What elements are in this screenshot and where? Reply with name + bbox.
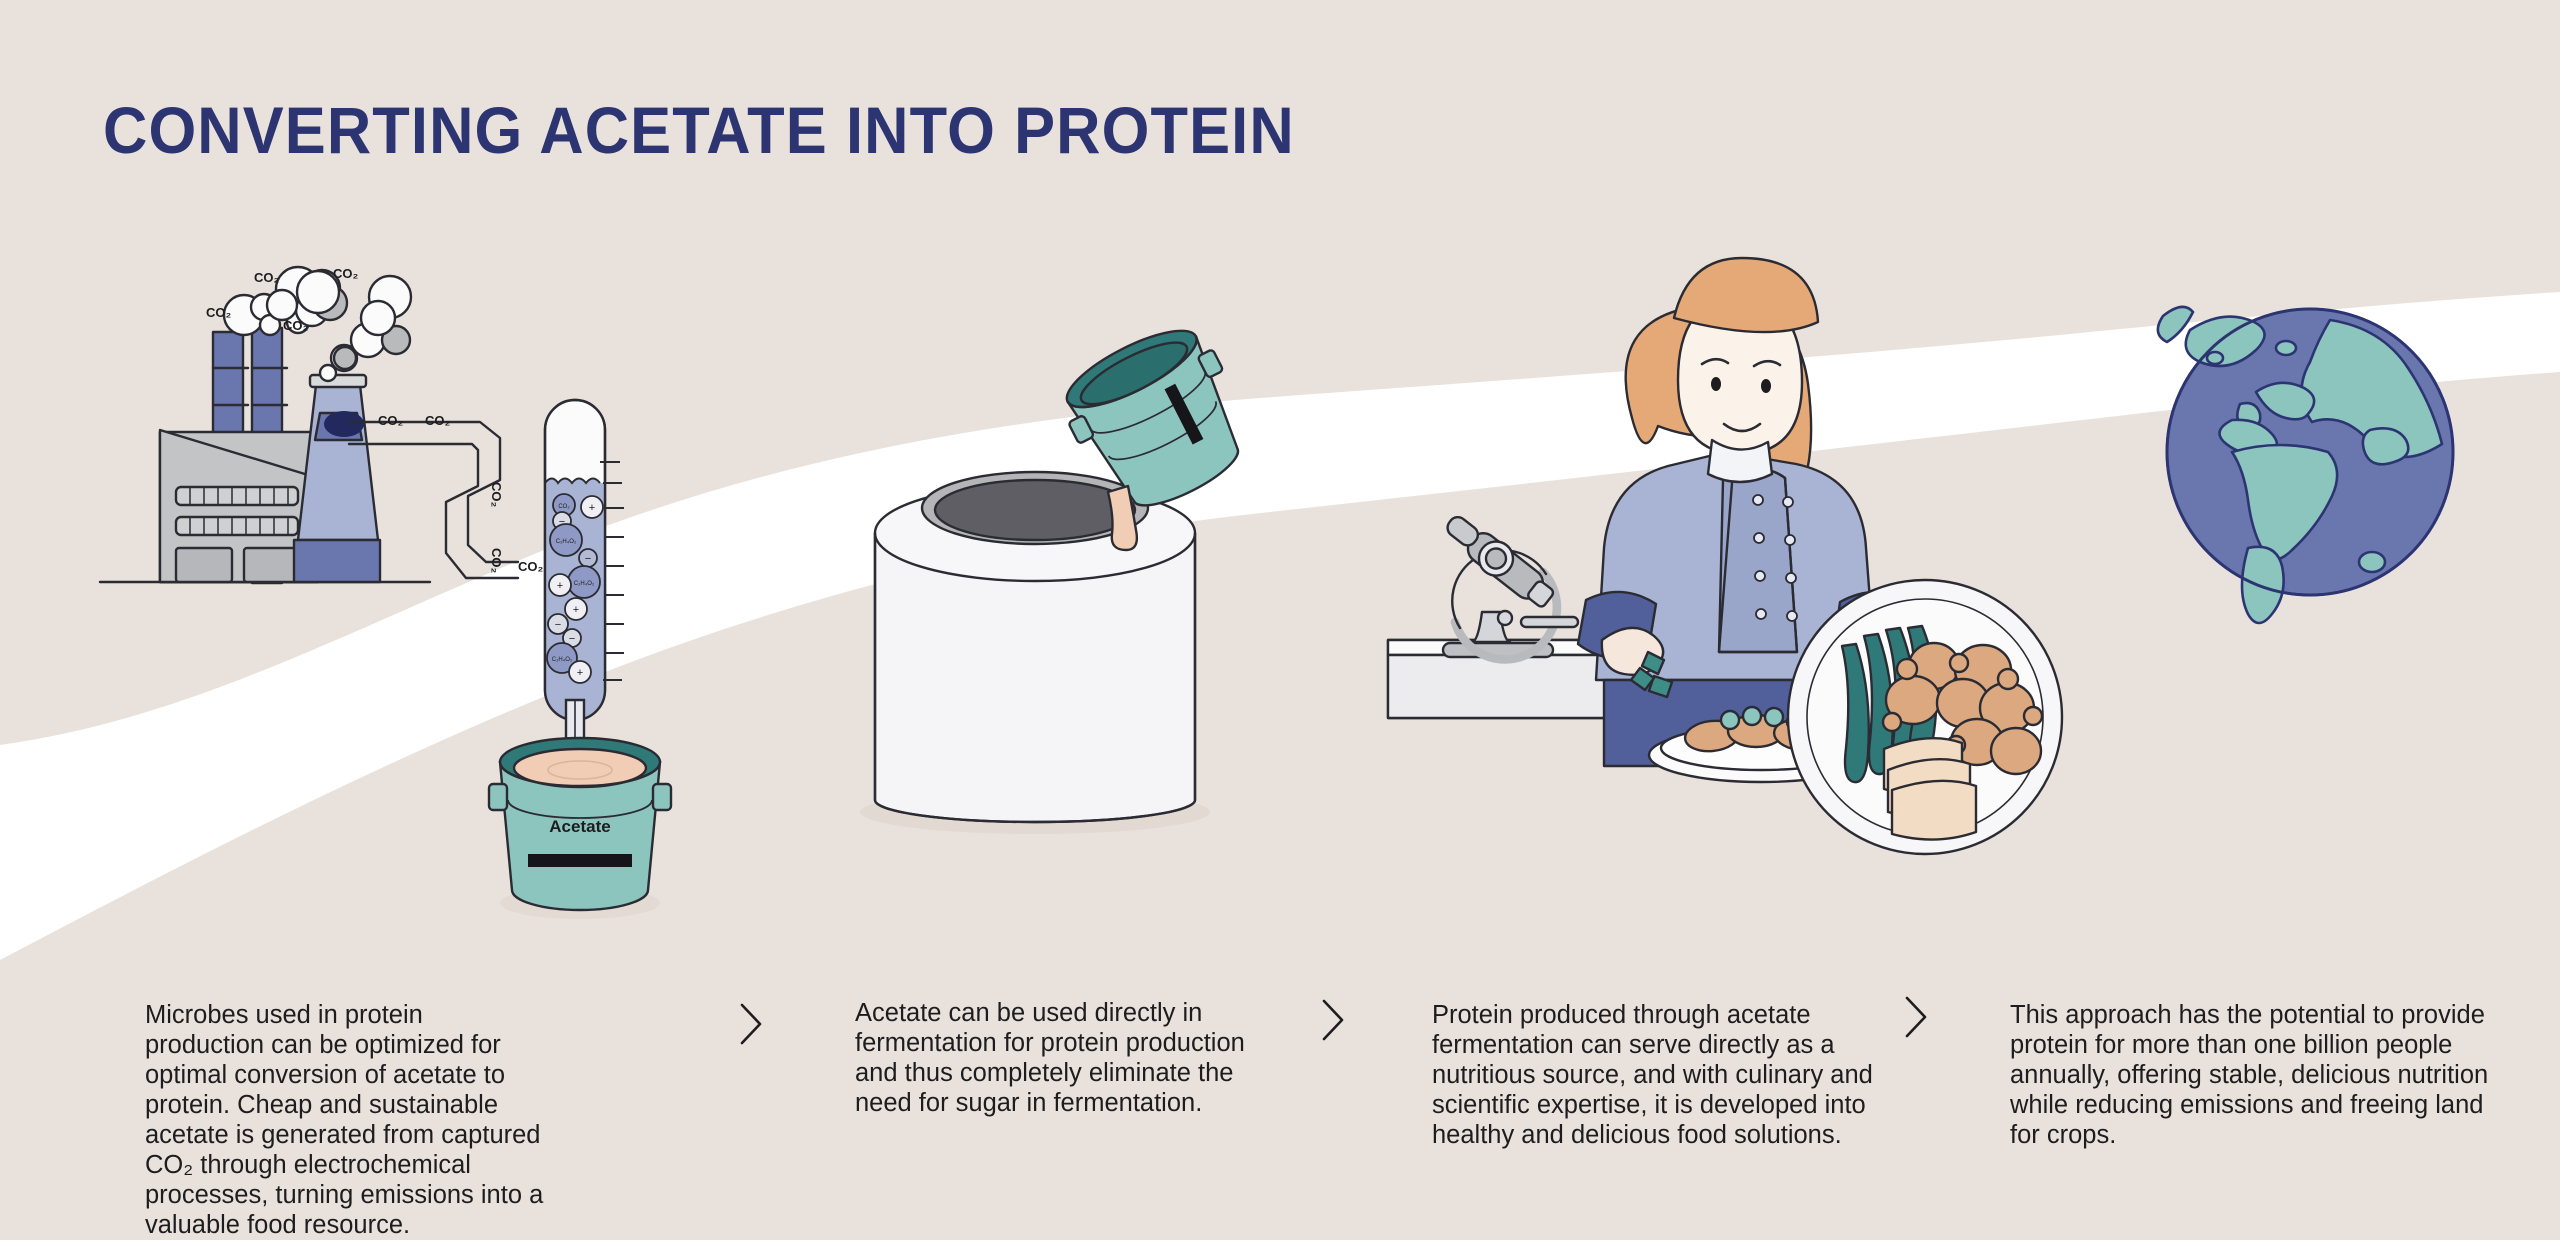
- chevron-right-icon: [1895, 990, 1935, 1044]
- page-title: CONVERTING ACETATE INTO PROTEIN: [103, 92, 1295, 168]
- infographic-canvas: CO₂ CO₂ CO₂ CO₂ CO₂ CO₂ CO₂ CO₂ CO₂: [0, 0, 2560, 1225]
- step-caption-1: Microbes used in protein production can …: [145, 1000, 545, 1240]
- step-caption-3: Protein produced through acetate ferment…: [1432, 1000, 1912, 1150]
- chevron-right-icon: [1312, 993, 1352, 1047]
- earth-globe: [2158, 307, 2453, 623]
- step-caption-2: Acetate can be used directly in fermenta…: [855, 998, 1255, 1118]
- chevron-right-icon: [730, 997, 770, 1051]
- step-caption-4: This approach has the potential to provi…: [2010, 1000, 2490, 1150]
